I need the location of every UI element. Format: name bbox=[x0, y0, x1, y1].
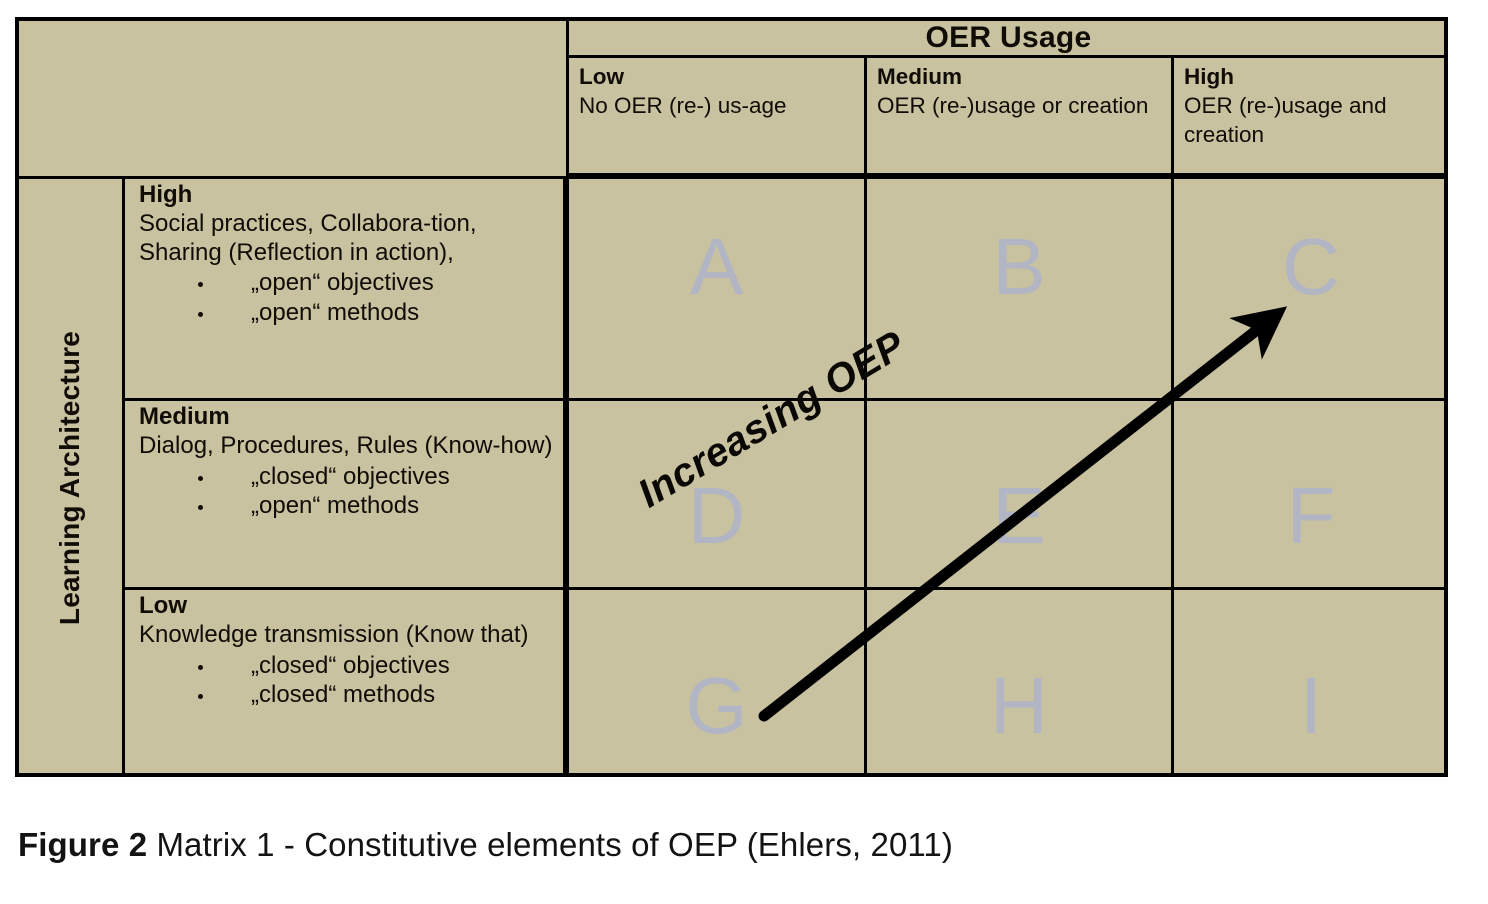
matrix-cell-letter: G bbox=[685, 660, 747, 752]
matrix-cell-letter: F bbox=[1287, 470, 1336, 562]
matrix-cell-h: H bbox=[864, 587, 1171, 777]
figure-caption: Figure 2 Matrix 1 - Constitutive element… bbox=[18, 826, 953, 864]
list-item: „closed“ objectives bbox=[215, 462, 557, 492]
row-header-medium: Medium Dialog, Procedures, Rules (Know-h… bbox=[125, 398, 566, 587]
column-header-low: Low No OER (re-) us-age bbox=[566, 58, 864, 176]
matrix-cell-letter: I bbox=[1300, 660, 1322, 752]
row-header-high-bullets: „open“ objectives „open“ methods bbox=[139, 268, 557, 328]
row-axis-title-cell: Learning Architecture bbox=[19, 176, 125, 777]
row-axis-title: Learning Architecture bbox=[55, 331, 87, 625]
list-item: „open“ methods bbox=[215, 298, 557, 328]
row-header-low-bullets: „closed“ objectives „closed“ methods bbox=[139, 651, 557, 711]
oep-matrix-table: OER Usage Low No OER (re-) us-age Medium… bbox=[15, 17, 1448, 777]
row-header-high: High Social practices, Collabora-tion, S… bbox=[125, 176, 566, 398]
column-header-high: High OER (re-)usage and creation bbox=[1171, 58, 1448, 176]
row-header-medium-bullets: „closed“ objectives „open“ methods bbox=[139, 462, 557, 522]
matrix-cell-i: I bbox=[1171, 587, 1448, 777]
matrix-cell-letter: B bbox=[992, 221, 1045, 313]
matrix-cell-f: F bbox=[1171, 398, 1448, 587]
list-item: „closed“ objectives bbox=[215, 651, 557, 681]
matrix-cell-letter: E bbox=[992, 470, 1045, 562]
matrix-cell-letter: H bbox=[990, 660, 1048, 752]
row-header-high-description: Social practices, Collabora-tion, Sharin… bbox=[139, 210, 557, 268]
list-item: „open“ objectives bbox=[215, 268, 557, 298]
matrix-cell-b: B bbox=[864, 176, 1171, 398]
figure-caption-prefix: Figure 2 bbox=[18, 826, 147, 863]
row-header-low: Low Knowledge transmission (Know that) „… bbox=[125, 587, 566, 777]
column-axis-title: OER Usage bbox=[566, 21, 1448, 58]
figure-caption-text: Matrix 1 - Constitutive elements of OEP … bbox=[147, 826, 953, 863]
column-header-high-label: High bbox=[1184, 63, 1440, 92]
matrix-cell-d: D bbox=[566, 398, 864, 587]
row-header-medium-description: Dialog, Procedures, Rules (Know-how) bbox=[139, 432, 557, 461]
column-header-medium-label: Medium bbox=[877, 63, 1163, 92]
matrix-cell-e: E bbox=[864, 398, 1171, 587]
list-item: „open“ methods bbox=[215, 491, 557, 521]
row-header-high-label: High bbox=[139, 181, 557, 210]
table-corner-cell-empty bbox=[19, 21, 566, 58]
column-header-low-description: No OER (re-) us-age bbox=[579, 92, 856, 121]
column-header-low-label: Low bbox=[579, 63, 856, 92]
column-header-medium: Medium OER (re-)usage or creation bbox=[864, 58, 1171, 176]
figure-container: OER Usage Low No OER (re-) us-age Medium… bbox=[0, 0, 1488, 904]
matrix-cell-g: G bbox=[566, 587, 864, 777]
table-corner-cell-empty-2 bbox=[19, 58, 566, 176]
matrix-cell-c: C bbox=[1171, 176, 1448, 398]
list-item: „closed“ methods bbox=[215, 680, 557, 710]
row-header-medium-label: Medium bbox=[139, 403, 557, 432]
column-header-high-description: OER (re-)usage and creation bbox=[1184, 92, 1440, 150]
row-header-low-label: Low bbox=[139, 592, 557, 621]
column-header-medium-description: OER (re-)usage or creation bbox=[877, 92, 1163, 121]
matrix-cell-letter: C bbox=[1282, 221, 1340, 313]
row-header-low-description: Knowledge transmission (Know that) bbox=[139, 621, 557, 650]
matrix-cell-letter: A bbox=[690, 221, 743, 313]
